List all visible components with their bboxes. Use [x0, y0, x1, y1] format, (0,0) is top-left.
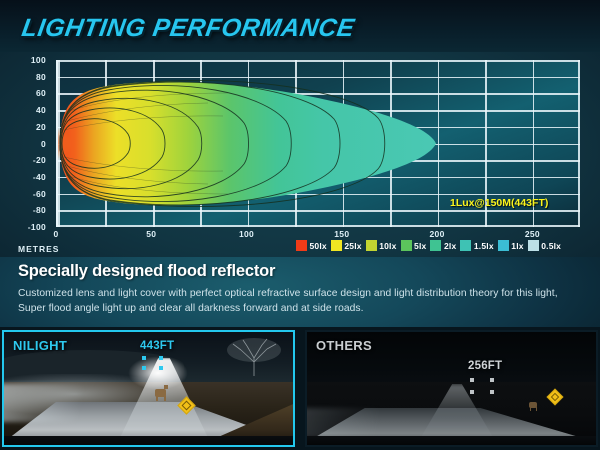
photo-brand-label: OTHERS	[316, 338, 372, 353]
x-axis-title: METRES	[18, 244, 59, 254]
legend-swatch-icon	[498, 240, 509, 251]
legend-item: 0.5lx	[528, 240, 561, 251]
legend-swatch-icon	[528, 240, 539, 251]
legend-label: 2lx	[444, 241, 456, 251]
measure-dot	[490, 390, 494, 394]
sign-inner-border	[551, 393, 559, 401]
legend-label: 1lx	[511, 241, 523, 251]
legend-label: 50lx	[310, 241, 327, 251]
comparison-photos: NILIGHT 443FT	[0, 327, 600, 450]
x-tick-label: 200	[430, 229, 445, 239]
beam-distance-annotation: 1Lux@150M(443FT)	[450, 197, 548, 209]
measure-dot	[470, 390, 474, 394]
legend-label: 0.5lx	[541, 241, 561, 251]
y-tick-label: -20	[33, 155, 46, 165]
photo-others: OTHERS 256FT	[305, 330, 598, 447]
x-tick-label: 250	[525, 229, 540, 239]
y-tick-label: 80	[36, 72, 46, 82]
description-section: Specially designed flood reflector Custo…	[0, 257, 600, 327]
x-tick-label: 100	[239, 229, 254, 239]
isolux-legend: 50lx 25lx 10lx 5lx 2lx 1.5lx 1lx 0.5lx	[296, 239, 561, 252]
vehicle-hood	[4, 436, 293, 445]
lighting-performance-infographic: LIGHTING PERFORMANCE 100 80 60 40 20 0 -…	[0, 0, 600, 450]
photo-distance-label: 256FT	[468, 360, 502, 372]
photo-nilight: NILIGHT 443FT	[2, 330, 295, 447]
measure-dot	[470, 378, 474, 382]
y-tick-label: 100	[31, 55, 46, 65]
legend-item: 10lx	[366, 240, 397, 251]
side-light-spill	[4, 384, 102, 422]
beam-pattern-chart: 100 80 60 40 20 0 -20 -40 -60 -80 -100	[0, 52, 600, 257]
legend-label: 5lx	[414, 241, 426, 251]
measure-dot	[142, 366, 146, 370]
legend-item: 50lx	[296, 240, 327, 251]
legend-item: 5lx	[401, 240, 427, 251]
sign-inner-border	[182, 401, 192, 411]
y-tick-label: -60	[33, 189, 46, 199]
legend-swatch-icon	[460, 240, 471, 251]
y-tick-label: 40	[36, 105, 46, 115]
deer-leg	[530, 407, 531, 411]
legend-label: 1.5lx	[474, 241, 494, 251]
legend-swatch-icon	[401, 240, 412, 251]
measure-dot	[159, 366, 163, 370]
y-tick-label: -40	[33, 172, 46, 182]
photo-brand-label: NILIGHT	[13, 338, 67, 353]
legend-label: 10lx	[379, 241, 396, 251]
y-tick-label: -100	[28, 222, 46, 232]
measure-dot	[490, 378, 494, 382]
legend-swatch-icon	[430, 240, 441, 251]
legend-item: 25lx	[331, 240, 362, 251]
description-heading: Specially designed flood reflector	[18, 262, 275, 281]
y-axis-labels: 100 80 60 40 20 0 -20 -40 -60 -80 -100	[0, 60, 52, 227]
x-tick-label: 50	[146, 229, 156, 239]
y-tick-label: 60	[36, 88, 46, 98]
x-tick-label: 0	[53, 229, 58, 239]
tree-icon	[223, 336, 285, 376]
legend-label: 25lx	[344, 241, 361, 251]
vehicle-hood	[307, 436, 596, 445]
measure-dot	[159, 356, 163, 360]
legend-item: 2lx	[430, 240, 456, 251]
legend-swatch-icon	[331, 240, 342, 251]
deer-leg	[536, 407, 537, 411]
y-tick-label: 0	[41, 139, 46, 149]
measure-dot	[142, 356, 146, 360]
headlight-glow	[128, 356, 188, 390]
description-body: Customized lens and light cover with per…	[18, 286, 584, 316]
legend-item: 1.5lx	[460, 240, 493, 251]
legend-swatch-icon	[296, 240, 307, 251]
deer-leg	[164, 396, 166, 401]
deer-leg	[156, 396, 158, 401]
y-tick-label: -80	[33, 205, 46, 215]
legend-item: 1lx	[498, 240, 524, 251]
page-title: LIGHTING PERFORMANCE	[20, 14, 357, 43]
plot-area: 1Lux@150M(443FT)	[56, 60, 580, 227]
y-tick-label: 20	[36, 122, 46, 132]
side-light-spill	[307, 408, 391, 438]
legend-swatch-icon	[366, 240, 377, 251]
photo-distance-label: 443FT	[140, 340, 174, 352]
deer-head	[164, 385, 168, 389]
x-tick-label: 150	[334, 229, 349, 239]
